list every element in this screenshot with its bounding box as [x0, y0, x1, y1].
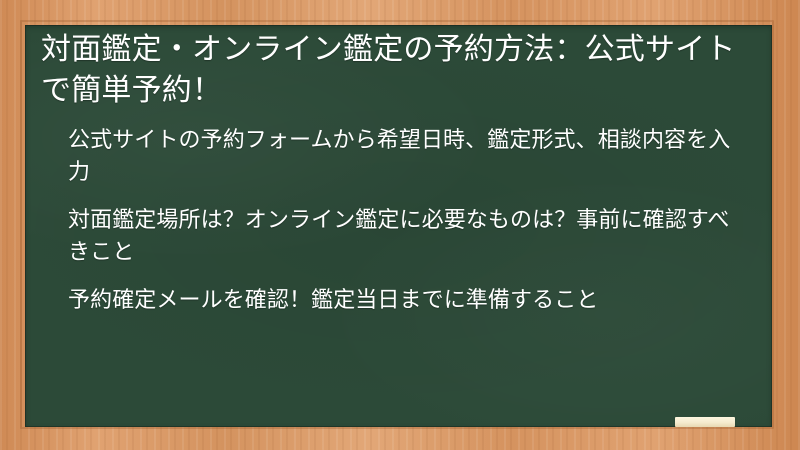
board-point-item: 予約確定メールを確認！鑑定当日までに準備すること [33, 285, 760, 317]
board-point-item: 対面鑑定場所は？オンライン鑑定に必要なものは？事前に確認すべきこと [33, 205, 760, 269]
board-point-list: 公式サイトの予約フォームから希望日時、鑑定形式、相談内容を入力 対面鑑定場所は？… [33, 125, 760, 317]
board-content: 対面鑑定・オンライン鑑定の予約方法：公式サイトで簡単予約！ 公式サイトの予約フォ… [25, 25, 772, 427]
board-title: 対面鑑定・オンライン鑑定の予約方法：公式サイトで簡単予約！ [33, 29, 760, 111]
chalkboard-surface: 対面鑑定・オンライン鑑定の予約方法：公式サイトで簡単予約！ 公式サイトの予約フォ… [25, 25, 772, 427]
chalk-stick-icon [675, 417, 735, 427]
blackboard-card: 対面鑑定・オンライン鑑定の予約方法：公式サイトで簡単予約！ 公式サイトの予約フォ… [0, 0, 800, 450]
board-point-item: 公式サイトの予約フォームから希望日時、鑑定形式、相談内容を入力 [33, 125, 760, 189]
